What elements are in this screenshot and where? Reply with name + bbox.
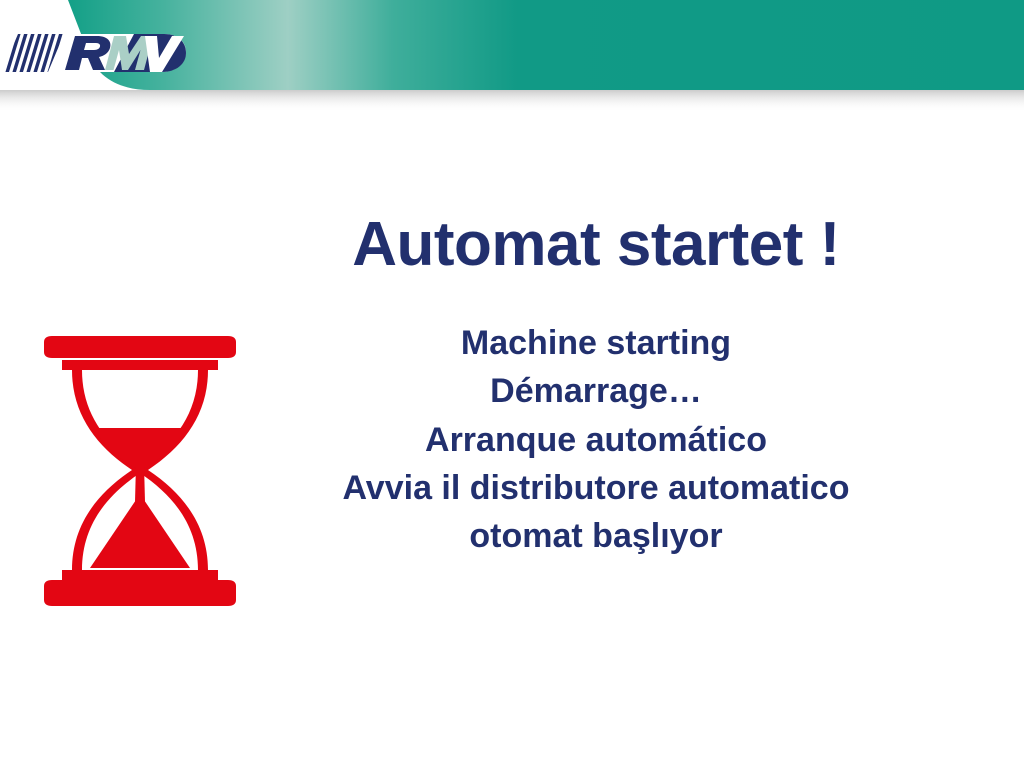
subtitle-line-fr: Démarrage… — [256, 367, 936, 415]
subtitle-list: Machine starting Démarrage… Arranque aut… — [256, 319, 936, 560]
subtitle-line-tr: otomat başlıyor — [256, 512, 936, 560]
hourglass-top-cap — [44, 336, 236, 358]
subtitle-line-it: Avvia il distributore automatico — [256, 464, 936, 512]
hourglass-icon — [38, 334, 242, 610]
slide-text-block: Automat startet ! Machine starting Démar… — [256, 212, 936, 560]
rmv-logo — [2, 22, 202, 84]
subtitle-line-es: Arranque automático — [256, 416, 936, 464]
subtitle-line-en: Machine starting — [256, 319, 936, 367]
page-title: Automat startet ! — [256, 212, 936, 277]
header-shadow — [0, 90, 1024, 112]
header-band-shape — [68, 0, 1024, 90]
hourglass-sand-bottom — [90, 494, 190, 568]
hourglass-bottom-base — [44, 580, 236, 606]
